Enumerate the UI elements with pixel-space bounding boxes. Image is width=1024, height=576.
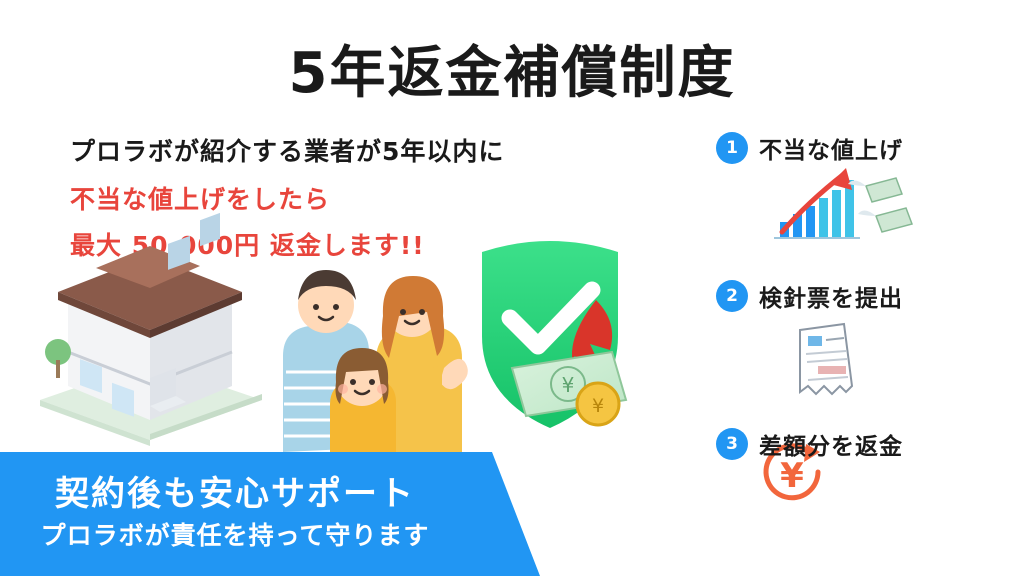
step-artwork xyxy=(762,464,1016,568)
list-item: 1 不当な値上げ xyxy=(716,128,1016,276)
page-title: 5年返金補償制度 xyxy=(0,28,1024,109)
step-label: 不当な値上げ xyxy=(759,131,903,165)
yen-bill-coin-illustration: ¥ ¥ xyxy=(512,300,626,425)
step-list: 1 不当な値上げ 2 検針票を提出 3 差額分を返金 xyxy=(716,128,1016,572)
copy-block: プロラボが紹介する業者が5年以内に 不当な値上げをしたら 最大 50,000円 … xyxy=(70,132,590,262)
list-item: 2 検針票を提出 xyxy=(716,276,1016,424)
family-illustration xyxy=(283,270,468,455)
list-item: 3 差額分を返金 xyxy=(716,424,1016,572)
step-artwork xyxy=(762,168,1016,272)
step-number-badge: 1 xyxy=(716,132,748,164)
step-artwork xyxy=(762,316,1016,420)
copy-line-1: プロラボが紹介する業者が5年以内に xyxy=(70,132,590,168)
copy-line-3: 最大 50,000円 返金します!! xyxy=(70,226,590,262)
shield-check-illustration xyxy=(482,241,618,428)
step-header: 2 検針票を提出 xyxy=(716,276,1016,316)
banner-subline: プロラボが責任を持って守ります xyxy=(0,516,470,552)
step-label: 検針票を提出 xyxy=(759,279,903,313)
copy-line-2: 不当な値上げをしたら xyxy=(70,180,590,216)
step-number-badge: 3 xyxy=(716,428,748,460)
support-banner: 契約後も安心サポート プロラボが責任を持って守ります xyxy=(0,452,540,576)
step-header: 3 差額分を返金 xyxy=(716,424,1016,464)
step-header: 1 不当な値上げ xyxy=(716,128,1016,168)
banner-headline: 契約後も安心サポート xyxy=(0,466,470,515)
svg-text:¥: ¥ xyxy=(592,395,604,417)
step-number-badge: 2 xyxy=(716,280,748,312)
step-label: 差額分を返金 xyxy=(759,427,903,461)
svg-text:¥: ¥ xyxy=(562,373,575,397)
slide-canvas: 5年返金補償制度 プロラボが紹介する業者が5年以内に 不当な値上げをしたら 最大… xyxy=(0,0,1024,576)
